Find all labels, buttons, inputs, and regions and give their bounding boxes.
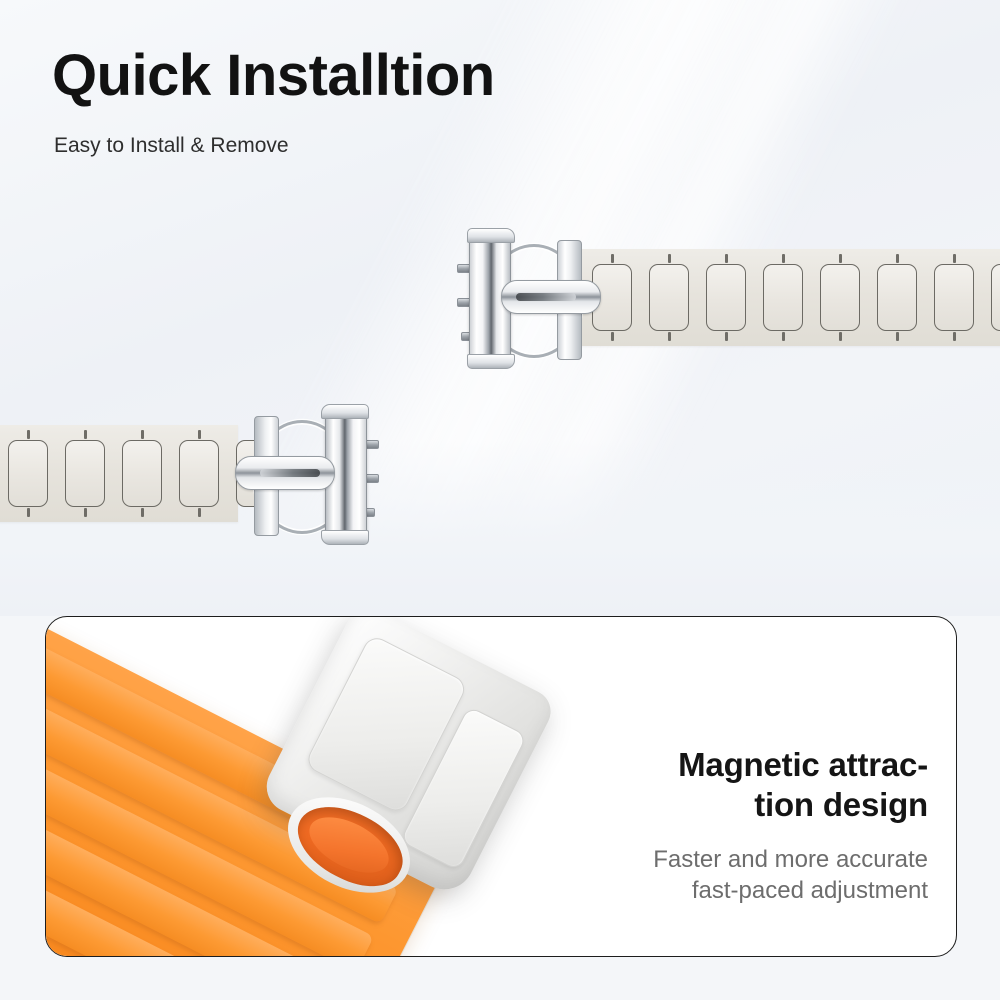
feature-title-line-1: Magnetic attrac- xyxy=(678,746,928,783)
band-segment xyxy=(122,440,162,506)
band-segment xyxy=(706,264,746,330)
top-watch-band-strap xyxy=(578,249,1000,346)
page-subtitle: Easy to Install & Remove xyxy=(54,134,289,158)
band-segment xyxy=(8,440,48,506)
connector-lug-cap-top xyxy=(321,404,369,419)
band-segment xyxy=(877,264,917,330)
band-segment xyxy=(820,264,860,330)
bottom-band-segment-row xyxy=(0,425,252,522)
band-segment xyxy=(763,264,803,330)
page-title: Quick Installtion xyxy=(52,46,495,107)
connector-lug-cap-bottom xyxy=(467,354,515,369)
band-segment xyxy=(65,440,105,506)
band-segment xyxy=(991,264,1000,330)
feature-photo-panel: Magnetic attrac- tion design Faster and … xyxy=(45,616,957,957)
bottom-band-metal-connector xyxy=(236,398,381,548)
feature-subtitle: Faster and more accurate fast-paced adju… xyxy=(558,845,928,906)
feature-subtitle-line-1: Faster and more accurate xyxy=(653,846,928,873)
band-segment xyxy=(649,264,689,330)
feature-title-line-2: tion design xyxy=(754,786,928,823)
top-band-segment-row xyxy=(578,249,1000,346)
band-segment xyxy=(179,440,219,506)
connector-lug-cap-top xyxy=(467,228,515,243)
feature-subtitle-line-2: fast-paced adjustment xyxy=(692,877,928,904)
connector-spring-bar xyxy=(501,280,601,314)
band-segment xyxy=(934,264,974,330)
connector-lug-cap-bottom xyxy=(321,530,369,545)
product-marketing-image: Quick Installtion Easy to Install & Remo… xyxy=(0,0,1000,1000)
top-band-metal-connector xyxy=(455,222,600,372)
connector-spring-bar xyxy=(235,456,335,490)
bottom-watch-band-strap xyxy=(0,425,238,522)
feature-title: Magnetic attrac- tion design xyxy=(588,745,928,826)
